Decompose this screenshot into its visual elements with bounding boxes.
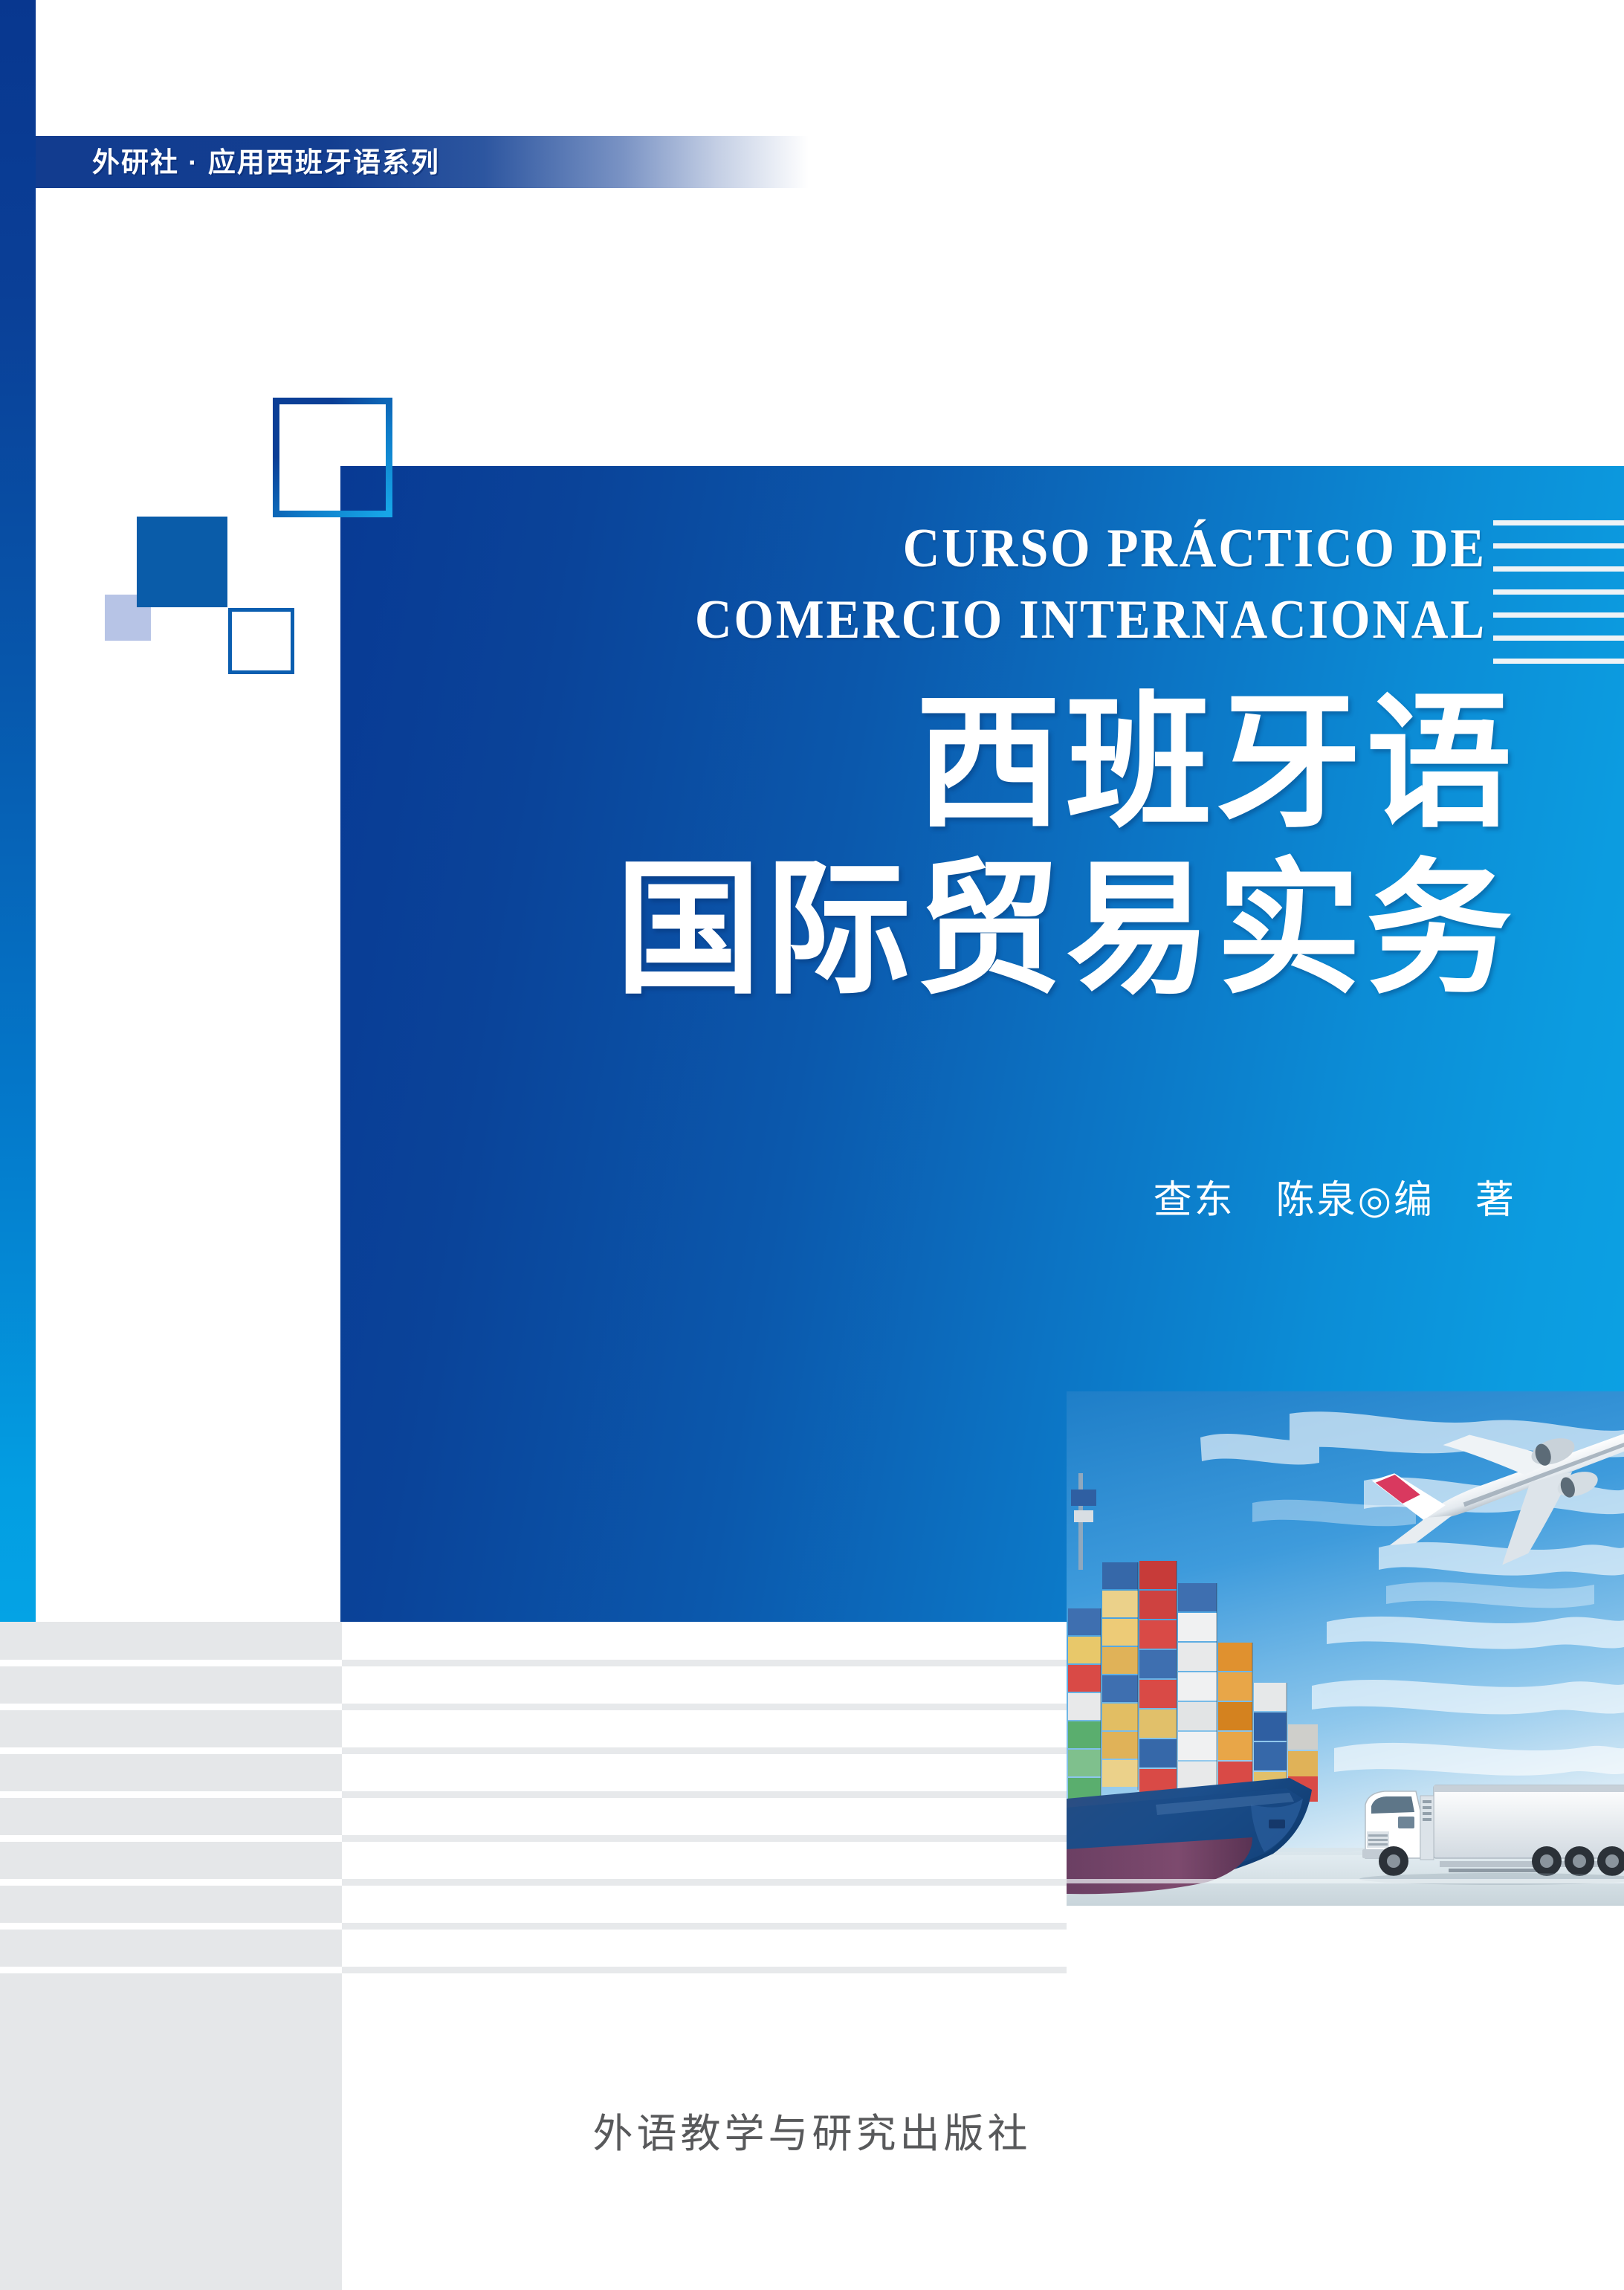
logistics-photo	[1067, 1391, 1624, 1906]
decor-square-outline-small	[228, 608, 294, 674]
publisher-name: 外语教学与研究出版社	[0, 2100, 1624, 2159]
chinese-title-line-1: 西班牙语	[357, 680, 1516, 847]
book-cover: 外研社 · 应用西班牙语系列 CURSO PRÁCTICO DE COMERCI…	[0, 0, 1624, 2290]
spanish-subtitle-line-1: CURSO PRÁCTICO DE	[491, 513, 1486, 584]
chinese-title-line-2: 国际贸易实务	[357, 847, 1516, 1013]
spanish-subtitle: CURSO PRÁCTICO DE COMERCIO INTERNACIONAL	[416, 513, 1486, 656]
series-banner-label: 外研社 · 应用西班牙语系列	[92, 138, 761, 187]
decor-square-solid	[137, 517, 227, 607]
bottom-left-stripe-block	[0, 1622, 342, 2290]
decor-square-outline-large	[273, 398, 392, 517]
left-gradient-spine	[0, 0, 36, 1622]
chinese-main-title: 西班牙语 国际贸易实务	[357, 680, 1516, 1013]
bottom-middle-stripe-block	[342, 1622, 1067, 2290]
author-credit: 查东 陈泉◎编 著	[669, 1168, 1516, 1224]
subtitle-rule-lines	[1483, 520, 1624, 666]
spanish-subtitle-line-2: COMERCIO INTERNACIONAL	[491, 584, 1486, 656]
